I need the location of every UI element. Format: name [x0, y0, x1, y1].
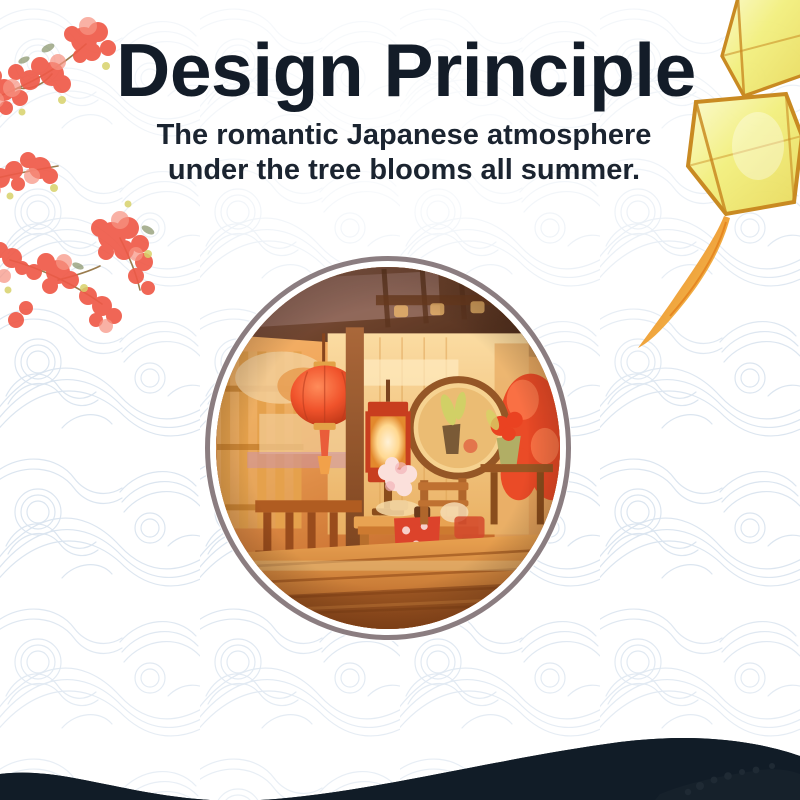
- dark-wave-band: [0, 670, 800, 800]
- headline-block: Design Principle The romantic Japanese a…: [0, 34, 800, 188]
- page-subtitle: The romantic Japanese atmosphere under t…: [0, 118, 800, 189]
- poster-canvas: Design Principle The romantic Japanese a…: [0, 0, 800, 800]
- subtitle-line-1: The romantic Japanese atmosphere: [8, 118, 800, 153]
- subtitle-line-2: under the tree blooms all summer.: [8, 153, 800, 188]
- product-photo: [216, 267, 560, 629]
- page-title: Design Principle: [0, 34, 800, 108]
- circular-photo-frame: [205, 256, 571, 640]
